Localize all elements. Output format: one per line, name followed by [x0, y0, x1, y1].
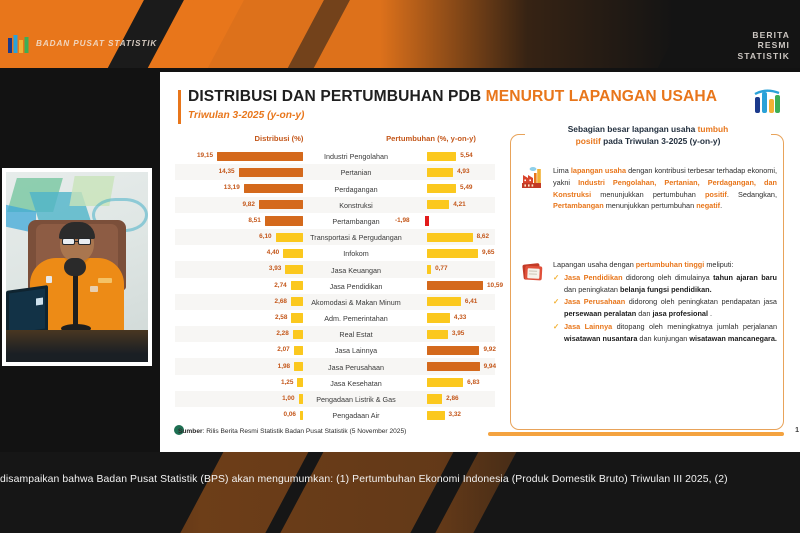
growth-bar	[427, 184, 456, 193]
insight-bullet-list: ✓Jasa Pendidikan didorong oleh dimulainy…	[553, 272, 777, 345]
caption-band: disampaikan bahwa Badan Pusat Statistik …	[0, 452, 800, 533]
distribution-bar	[259, 200, 303, 209]
growth-cell: 4,21	[409, 197, 495, 213]
eyeglass-left	[62, 238, 75, 245]
title-accent-bar	[178, 90, 181, 124]
panel-title-hl2: positif	[576, 136, 601, 146]
chart-category-label: Pengadaan Listrik & Gas	[305, 395, 407, 404]
insight-item-1: Lima lapangan usaha dengan kontribusi te…	[521, 165, 777, 212]
growth-bar	[427, 313, 450, 322]
insight-bullet-text: Jasa Pendidikan didorong oleh dimulainya…	[564, 272, 777, 296]
growth-value: 10,59	[487, 282, 503, 289]
growth-bar	[427, 152, 456, 161]
caption-fade	[0, 452, 800, 533]
growth-value: 9,92	[483, 346, 495, 353]
growth-value: 3,95	[452, 330, 464, 337]
distribution-cell: 1,25	[175, 375, 303, 391]
growth-cell: 0,77	[409, 261, 495, 277]
speaker-badge-left	[46, 276, 52, 283]
growth-value: 9,65	[482, 249, 494, 256]
distribution-bar	[217, 152, 303, 161]
growth-bar	[427, 378, 463, 387]
growth-value: 3,32	[449, 411, 461, 418]
growth-bar	[427, 249, 478, 258]
chart-row: 1,98Jasa Perusahaan9,94	[175, 358, 495, 374]
check-icon: ✓	[553, 272, 560, 296]
growth-bar-negative	[425, 216, 429, 226]
growth-cell: 5,49	[409, 180, 495, 196]
growth-value: 5,49	[460, 184, 472, 191]
chart-row: 14,35Pertanian4,93	[175, 164, 495, 180]
distribution-cell: 1,98	[175, 358, 303, 374]
distribution-bar	[300, 411, 303, 420]
growth-bar	[427, 346, 479, 355]
growth-value: 4,33	[454, 314, 466, 321]
chart-category-label: Konstruksi	[305, 201, 407, 210]
panel-title-hl1: tumbuh	[698, 124, 729, 134]
panel-title-part1: Sebagian besar lapangan usaha	[568, 124, 698, 134]
laptop-screen	[9, 288, 45, 333]
brs-wordmark: BERITA RESMI STATISTIK	[737, 30, 790, 61]
desk-reflection	[6, 330, 148, 362]
distribution-bar	[291, 297, 303, 306]
brs-line-1: BERITA	[737, 30, 790, 40]
chart-row: 2,07Jasa Lainnya9,92	[175, 342, 495, 358]
chart-category-label: Akomodasi & Makan Minum	[305, 298, 407, 307]
page-title-soft: MENURUT LAPANGAN USAHA	[486, 88, 717, 105]
growth-bar	[427, 330, 448, 339]
growth-cell: 9,65	[409, 245, 495, 261]
factory-icon-glyph	[521, 165, 546, 190]
speaker-badge-right-2	[90, 286, 98, 292]
distribution-bar	[244, 184, 303, 193]
distribution-value: 1,25	[281, 379, 293, 386]
distribution-cell: 2,07	[175, 342, 303, 358]
bps-logo-icon	[7, 34, 31, 56]
chart-category-label: Jasa Lainnya	[305, 346, 407, 355]
distribution-value: 4,40	[267, 249, 279, 256]
distribution-value: 3,93	[269, 265, 281, 272]
page-title-bold: DISTRIBUSI DAN PERTUMBUHAN PDB	[188, 88, 486, 105]
distribution-value: 8,51	[248, 217, 260, 224]
growth-bar	[427, 394, 442, 403]
distribution-cell: 2,28	[175, 326, 303, 342]
laptop-logo-icon	[36, 298, 43, 306]
chart-row: 19,15Industri Pengolahan5,54	[175, 148, 495, 164]
growth-bar	[427, 265, 431, 274]
distribution-bar	[299, 394, 303, 403]
chart-category-label: Jasa Pendidikan	[305, 282, 407, 291]
growth-cell: 3,32	[409, 407, 495, 423]
distribution-cell: 14,35	[175, 164, 303, 180]
chart-header-distribusi: Distribusi (%)	[219, 134, 339, 143]
distribution-bar	[293, 330, 303, 339]
chart-row: 2,74Jasa Pendidikan10,59	[175, 278, 495, 294]
distribution-cell: 2,58	[175, 310, 303, 326]
distribution-bar	[294, 346, 303, 355]
chart-category-label: Pertambangan	[305, 217, 407, 226]
growth-value: 6,41	[465, 298, 477, 305]
distribution-cell: 9,82	[175, 197, 303, 213]
source-text: : Rilis Berita Resmi Statistik Badan Pus…	[203, 428, 407, 435]
video-frame	[6, 172, 148, 362]
distribution-value: 9,82	[242, 201, 254, 208]
chart-column-headers: Distribusi (%) Pertumbuhan (%, y-on-y)	[175, 134, 495, 148]
chart-category-label: Jasa Kesehatan	[305, 379, 407, 388]
bps-header-logo-icon	[752, 88, 782, 118]
slide-footer: Sumber: Rilis Berita Resmi Statistik Bad…	[160, 424, 800, 442]
eyeglass-bridge	[75, 241, 78, 242]
chart-row: 6,10Transportasi & Pergudangan8,62	[175, 229, 495, 245]
distribution-bar	[283, 249, 303, 258]
growth-bar	[427, 281, 483, 290]
distribution-value: 14,35	[219, 168, 235, 175]
growth-cell: 6,83	[409, 375, 495, 391]
growth-value: 4,93	[457, 168, 469, 175]
chart-header-pertumbuhan: Pertumbuhan (%, y-on-y)	[371, 134, 491, 143]
slide-page-number: 1	[795, 427, 799, 434]
top-banner: BADAN PUSAT STATISTIK BERITA RESMI STATI…	[0, 0, 800, 68]
check-icon: ✓	[553, 321, 560, 345]
chart-category-label: Transportasi & Pergudangan	[305, 233, 407, 242]
growth-cell: 9,92	[409, 342, 495, 358]
distribution-cell: 4,40	[175, 245, 303, 261]
chart-row: 0,06Pengadaan Air3,32	[175, 407, 495, 423]
source-label: Sumber	[178, 428, 203, 435]
distribution-cell: 2,68	[175, 294, 303, 310]
chart-category-label: Real Estat	[305, 330, 407, 339]
factory-icon	[521, 165, 546, 190]
distribution-value: 0,06	[284, 411, 296, 418]
chart-rows: 19,15Industri Pengolahan5,5414,35Pertani…	[175, 148, 495, 423]
bps-logo-glyph	[7, 34, 31, 56]
insight-lead-2: Lapangan usaha dengan pertumbuhan tinggi…	[553, 259, 777, 271]
chart-row: 1,00Pengadaan Listrik & Gas2,86	[175, 391, 495, 407]
chart-row: 4,40Infokom9,65	[175, 245, 495, 261]
distribution-value: 2,07	[277, 346, 289, 353]
speaker-badge-right	[98, 278, 112, 283]
page-title: DISTRIBUSI DAN PERTUMBUHAN PDB MENURUT L…	[188, 88, 717, 106]
distribution-cell: 1,00	[175, 391, 303, 407]
growth-cell: 8,62	[409, 229, 495, 245]
growth-cell: 2,86	[409, 391, 495, 407]
chart-category-label: Infokom	[305, 249, 407, 258]
chart-row: 13,19Perdagangan5,49	[175, 180, 495, 196]
insight-text-1: Lima lapangan usaha dengan kontribusi te…	[553, 165, 777, 212]
distribution-cell: 6,10	[175, 229, 303, 245]
insight-lead-pre: Lapangan usaha dengan	[553, 260, 636, 269]
distribution-cell: 8,51	[175, 213, 303, 229]
growth-cell: 3,95	[409, 326, 495, 342]
chart-category-label: Perdagangan	[305, 185, 407, 194]
distribution-value: 2,28	[276, 330, 288, 337]
growth-cell: 4,93	[409, 164, 495, 180]
growth-value: 6,83	[467, 379, 479, 386]
growth-value: 2,86	[446, 395, 458, 402]
chart-row: 2,68Akomodasi & Makan Minum6,41	[175, 294, 495, 310]
growth-value: 0,77	[435, 265, 447, 272]
distribution-value: 13,19	[224, 184, 240, 191]
distribution-bar	[239, 168, 303, 177]
growth-bar	[427, 233, 473, 242]
source-note: Sumber: Rilis Berita Resmi Statistik Bad…	[178, 428, 406, 435]
insight-item-2: Lapangan usaha dengan pertumbuhan tinggi…	[521, 259, 777, 345]
growth-bar	[427, 362, 480, 371]
distribution-cell: 19,15	[175, 148, 303, 164]
books-icon-glyph	[521, 259, 546, 284]
chart-category-label: Jasa Perusahaan	[305, 363, 407, 372]
distribution-bar	[276, 233, 303, 242]
brs-line-3: STATISTIK	[737, 51, 790, 61]
distribution-value: 1,98	[278, 363, 290, 370]
insights-panel-title: Sebagian besar lapangan usaha tumbuh pos…	[525, 124, 771, 148]
insight-lead-highlight: pertumbuhan tinggi	[636, 260, 705, 269]
check-icon: ✓	[553, 296, 560, 320]
eyeglass-right	[78, 238, 91, 245]
microphone-head	[64, 258, 86, 276]
chart-row: 8,51Pertambangan-1,98	[175, 213, 495, 229]
distribution-bar	[294, 362, 303, 371]
chart-row: 9,82Konstruksi4,21	[175, 197, 495, 213]
growth-value: -1,98	[395, 217, 410, 224]
growth-cell: 9,94	[409, 358, 495, 374]
distribution-bar	[265, 216, 303, 225]
distribution-cell: 0,06	[175, 407, 303, 423]
insight-bullet: ✓Jasa Perusahaan didorong oleh peningkat…	[553, 296, 777, 320]
insight-lead-post: meliputi:	[704, 260, 733, 269]
caption-text: disampaikan bahwa Badan Pusat Statistik …	[0, 474, 800, 485]
distribution-cell: 13,19	[175, 180, 303, 196]
growth-bar	[427, 200, 449, 209]
distribution-cell: 3,93	[175, 261, 303, 277]
chart-row: 1,25Jasa Kesehatan6,83	[175, 375, 495, 391]
chart-category-label: Industri Pengolahan	[305, 152, 407, 161]
page-subtitle: Triwulan 3-2025 (y-on-y)	[188, 110, 304, 121]
distribution-cell: 2,74	[175, 278, 303, 294]
distribution-value: 2,74	[274, 282, 286, 289]
distribution-bar	[291, 281, 303, 290]
growth-bar	[427, 411, 445, 420]
chart-row: 2,58Adm. Pemerintahan4,33	[175, 310, 495, 326]
chart-row: 3,93Jasa Keuangan0,77	[175, 261, 495, 277]
insight-bullet-text: Jasa Lainnya ditopang oleh meningkatnya …	[564, 321, 777, 345]
distribution-bar	[291, 313, 303, 322]
growth-value: 9,94	[484, 363, 496, 370]
growth-bar	[427, 297, 461, 306]
chart-category-label: Pertanian	[305, 168, 407, 177]
org-name: BADAN PUSAT STATISTIK	[36, 39, 157, 48]
chart-category-label: Pengadaan Air	[305, 411, 407, 420]
growth-cell: 5,54	[409, 148, 495, 164]
chart-category-label: Jasa Keuangan	[305, 266, 407, 275]
chart-row: 2,28Real Estat3,95	[175, 326, 495, 342]
growth-value: 8,62	[477, 233, 489, 240]
distribution-value: 6,10	[259, 233, 271, 240]
footer-rule	[488, 432, 784, 437]
pdb-chart: Distribusi (%) Pertumbuhan (%, y-on-y) 1…	[175, 134, 495, 430]
insight-bullet: ✓Jasa Lainnya ditopang oleh meningkatnya…	[553, 321, 777, 345]
insight-bullet-text: Jasa Perusahaan didorong oleh peningkata…	[564, 296, 777, 320]
distribution-value: 1,00	[282, 395, 294, 402]
brs-line-2: RESMI	[737, 40, 790, 50]
books-icon	[521, 259, 546, 284]
screen: BADAN PUSAT STATISTIK BERITA RESMI STATI…	[0, 0, 800, 533]
insight-bullet: ✓Jasa Pendidikan didorong oleh dimulainy…	[553, 272, 777, 296]
growth-cell: 10,59	[409, 278, 495, 294]
panel-title-part2: pada Triwulan 3-2025 (y-on-y)	[601, 136, 721, 146]
distribution-value: 2,58	[275, 314, 287, 321]
distribution-value: 19,15	[197, 152, 213, 159]
growth-cell: -1,98	[409, 213, 495, 229]
chart-category-label: Adm. Pemerintahan	[305, 314, 407, 323]
growth-bar	[427, 168, 453, 177]
growth-value: 4,21	[453, 201, 465, 208]
growth-cell: 6,41	[409, 294, 495, 310]
presentation-slide: DISTRIBUSI DAN PERTUMBUHAN PDB MENURUT L…	[160, 72, 800, 452]
growth-value: 5,54	[460, 152, 472, 159]
distribution-bar	[297, 378, 303, 387]
distribution-bar	[285, 265, 303, 274]
growth-cell: 4,33	[409, 310, 495, 326]
distribution-value: 2,68	[275, 298, 287, 305]
speaker-video-feed[interactable]	[2, 168, 152, 366]
insights-panel: Sebagian besar lapangan usaha tumbuh pos…	[510, 134, 784, 430]
